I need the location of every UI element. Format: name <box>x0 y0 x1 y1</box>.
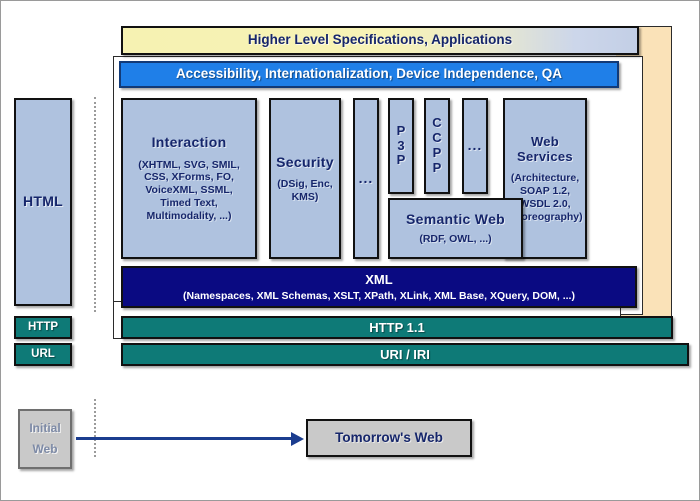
column-interaction-title: Interaction <box>152 134 227 151</box>
column-security[interactable]: Security (DSig, Enc, KMS) <box>269 98 341 259</box>
ccpp-letter-2: C <box>432 131 441 146</box>
ccpp-letter-1: C <box>432 116 441 131</box>
column-interaction-subtitle: (XHTML, SVG, SMIL, CSS, XForms, FO, Voic… <box>138 159 240 223</box>
band-uri-label: URI / IRI <box>380 347 430 363</box>
column-security-title: Security <box>276 154 334 171</box>
column-p3p-letters: P 3 P <box>397 124 406 169</box>
evolution-arrow-line <box>76 437 291 440</box>
band-http[interactable]: HTTP 1.1 <box>121 316 673 339</box>
band-uri[interactable]: URI / IRI <box>121 343 689 366</box>
interaction-sub-line-5: Multimodality, ...) <box>138 210 240 223</box>
box-semantic-web[interactable]: Semantic Web (RDF, OWL, ...) <box>388 198 523 259</box>
legacy-url-block[interactable]: URL <box>14 343 72 366</box>
legacy-http-block[interactable]: HTTP <box>14 316 72 339</box>
initial-web-block[interactable]: Initial Web <box>18 409 72 469</box>
tomorrows-web-label: Tomorrow's Web <box>335 430 443 446</box>
legacy-http-label: HTTP <box>28 320 58 334</box>
column-ellipsis-short-label: ... <box>468 137 483 154</box>
band-higher-level-label: Higher Level Specifications, Application… <box>248 32 512 48</box>
column-security-subtitle: (DSig, Enc, KMS) <box>277 178 332 204</box>
initial-web-line-1: Initial <box>29 421 60 436</box>
column-interaction[interactable]: Interaction (XHTML, SVG, SMIL, CSS, XFor… <box>121 98 257 259</box>
band-cross-cutting-label: Accessibility, Internationalization, Dev… <box>176 66 562 82</box>
band-xml[interactable]: XML (Namespaces, XML Schemas, XSLT, XPat… <box>121 266 637 308</box>
column-p3p[interactable]: P 3 P <box>388 98 414 194</box>
ws-sub-line-1: (Architecture, <box>507 172 582 185</box>
security-sub-line-1: (DSig, Enc, <box>277 178 332 191</box>
band-http-label: HTTP 1.1 <box>369 320 424 336</box>
initial-web-line-2: Web <box>32 442 57 457</box>
ccpp-letter-3: P <box>432 146 441 161</box>
band-cross-cutting[interactable]: Accessibility, Internationalization, Dev… <box>119 61 619 88</box>
box-semantic-web-title: Semantic Web <box>406 211 505 228</box>
p3p-letter-2: 3 <box>397 139 406 154</box>
ccpp-letter-4: P <box>432 161 441 176</box>
ws-sub-line-2: SOAP 1.2, <box>507 185 582 198</box>
band-higher-level-specifications[interactable]: Higher Level Specifications, Application… <box>121 26 639 55</box>
legacy-html-label: HTML <box>23 193 63 210</box>
evolution-arrow-head-icon <box>291 432 304 446</box>
interaction-sub-line-4: Timed Text, <box>138 197 240 210</box>
interaction-sub-line-1: (XHTML, SVG, SMIL, <box>138 159 240 172</box>
column-ccpp[interactable]: C C P P <box>424 98 450 194</box>
security-sub-line-2: KMS) <box>277 191 332 204</box>
p3p-letter-1: P <box>397 124 406 139</box>
column-ellipsis-tall[interactable]: ... <box>353 98 379 259</box>
legacy-divider <box>94 97 96 312</box>
band-xml-title: XML <box>365 272 392 288</box>
interaction-sub-line-2: CSS, XForms, FO, <box>138 171 240 184</box>
column-web-services-title: Web Services <box>508 134 582 166</box>
interaction-sub-line-3: VoiceXML, SSML, <box>138 184 240 197</box>
column-ccpp-letters: C C P P <box>432 116 441 176</box>
legacy-html-block[interactable]: HTML <box>14 98 72 306</box>
column-ellipsis-tall-label: ... <box>359 170 374 187</box>
box-semantic-web-subtitle: (RDF, OWL, ...) <box>419 233 491 246</box>
diagram-canvas: Higher Level Specifications, Application… <box>0 0 700 501</box>
p3p-letter-3: P <box>397 153 406 168</box>
legacy-divider-lower <box>94 399 96 457</box>
band-xml-subtitle: (Namespaces, XML Schemas, XSLT, XPath, X… <box>183 290 575 303</box>
tomorrows-web-block[interactable]: Tomorrow's Web <box>306 419 472 457</box>
legacy-url-label: URL <box>31 347 55 361</box>
column-ellipsis-short[interactable]: ... <box>462 98 488 194</box>
